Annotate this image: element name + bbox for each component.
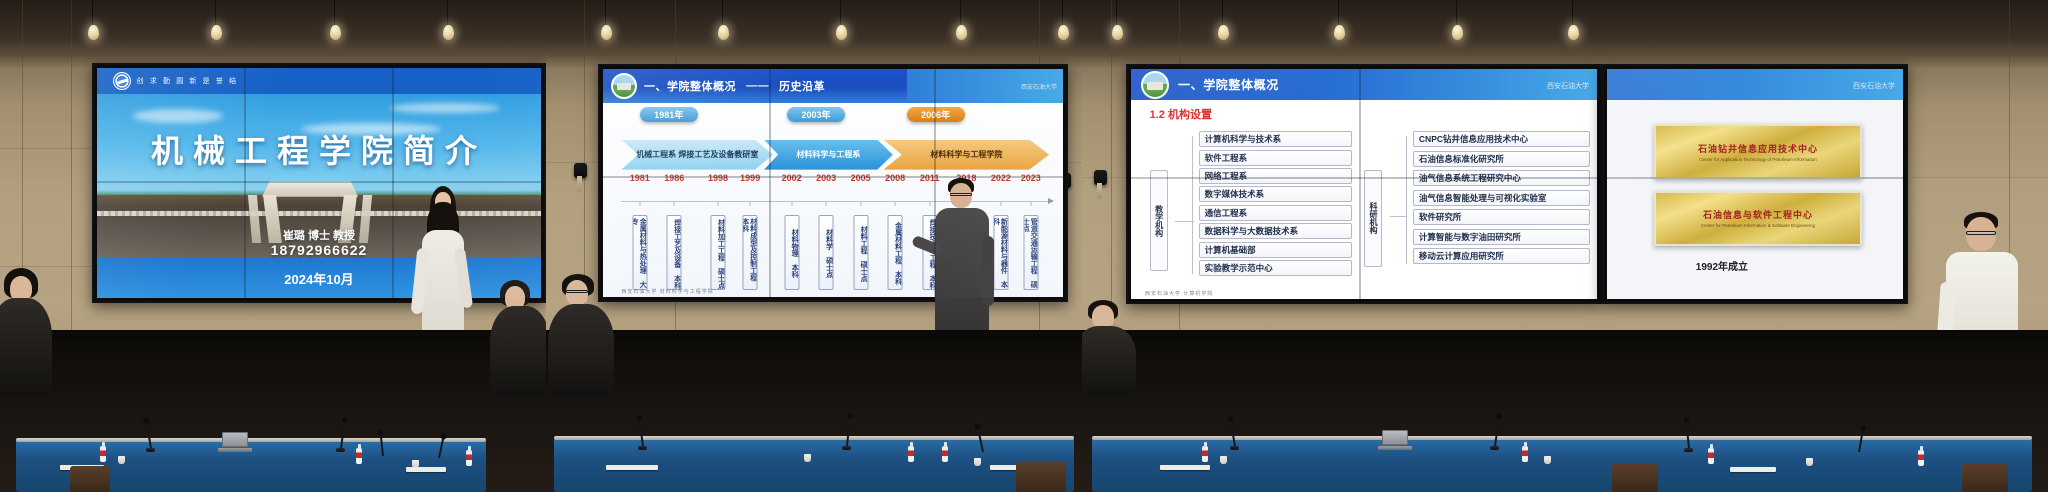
water-bottle <box>942 446 948 462</box>
org-item: 油气信息系统工程研究中心 <box>1413 170 1590 186</box>
slide-header-subtitle: 历史沿革 <box>779 78 825 94</box>
paper-cup <box>1544 456 1551 464</box>
ceiling-lamp <box>330 0 338 40</box>
milestone-pill-2003: 2003年 <box>787 107 845 122</box>
laptop <box>1378 430 1412 450</box>
ceiling-lamp <box>211 0 219 40</box>
axis-item: 金属材料工程 本科 <box>888 215 903 290</box>
chair <box>1962 464 2008 492</box>
ceiling-lamp <box>956 0 964 40</box>
ceiling-lamp <box>836 0 844 40</box>
slide-header-separator: —— <box>746 80 769 92</box>
seated-attendee-left <box>0 268 60 392</box>
campus-photo-icon <box>1141 71 1169 99</box>
org-item: 油气信息智能处理与可视化实验室 <box>1413 190 1590 206</box>
presenter-name: 崔璐 博士 教授 <box>97 229 541 243</box>
org-item: 软件工程系 <box>1199 150 1353 166</box>
axis-item: 管道交通运输工程 硕士点 <box>1023 215 1038 290</box>
org-item: 石油信息标准化研究所 <box>1413 151 1590 167</box>
panel-right: 一、学院整体概况 西安石油大学 1.2 机构设置 教学机构 计算机科学与技术系 … <box>1082 0 2048 492</box>
water-bottle <box>1918 450 1924 466</box>
slide-header-band: 一、学院整体概况 西安石油大学 <box>1131 69 1597 100</box>
photo-triptych: 创 求 勤 圆 新 是 誉 结 机械工程学院简介 崔璐 博士 教授 187929… <box>0 0 2048 492</box>
milestone-pills: 1981年 2003年 2006年 <box>603 105 1063 135</box>
paper-cup <box>118 456 125 464</box>
founded-note: 1992年成立 <box>1696 258 1748 273</box>
paper-cup <box>1220 456 1227 464</box>
axis-item: 材料成型及控制工程 本科 <box>743 215 758 290</box>
axis-item: 材料加工工程 硕士点 <box>711 215 726 290</box>
plaque-software-center: 石油信息与软件工程中心 Center for Petroleum Informa… <box>1654 191 1861 246</box>
ceiling-soffit <box>0 0 546 54</box>
seated-attendee-right <box>492 280 546 392</box>
glasses-icon <box>566 290 588 293</box>
slide-org-chart: 一、学院整体概况 西安石油大学 1.2 机构设置 教学机构 计算机科学与技术系 … <box>1131 69 1597 299</box>
campus-photo-icon <box>611 73 637 99</box>
seated-attendee-left <box>552 274 618 392</box>
org-item: 通信工程系 <box>1199 205 1353 221</box>
org-item: 数据科学与大数据技术系 <box>1199 223 1353 239</box>
ceiling-lamp <box>1334 0 1342 40</box>
slide-header-band-right: 西安石油大学 <box>1607 69 1903 100</box>
video-wall: 一、学院整体概况 西安石油大学 1.2 机构设置 教学机构 计算机科学与技术系 … <box>1126 64 1602 304</box>
axis-item: 焊接工艺及设备 本科 <box>667 215 682 290</box>
axis-item: 金属材料与热处理 大专 <box>632 215 647 290</box>
slide-header-title: 一、学院整体概况 <box>644 78 736 94</box>
ceiling-lamp <box>443 0 451 40</box>
glasses-icon <box>950 193 972 196</box>
ceiling-lamp <box>718 0 726 40</box>
wall-speaker <box>574 163 587 178</box>
slide-title: 创 求 勤 圆 新 是 誉 结 机械工程学院简介 崔璐 博士 教授 187929… <box>97 68 541 298</box>
paper-cup <box>804 454 811 462</box>
milestone-pill-2006: 2006年 <box>907 107 965 122</box>
org-item: 计算机基础部 <box>1199 242 1353 258</box>
university-motto: 创 求 勤 圆 新 是 誉 结 <box>137 77 239 85</box>
chair <box>70 466 110 492</box>
axis-item: 材料工程 硕士点 <box>853 215 868 290</box>
milestone-pill-1981: 1981年 <box>640 107 698 122</box>
axis-year: 2002 <box>782 173 802 183</box>
slide-footer-note: 西安石油大学 材料科学与工程学院 <box>621 288 713 295</box>
ceiling-lamp <box>1112 0 1120 40</box>
presenter-phone: 18792966622 <box>97 243 541 257</box>
axis-year: 1999 <box>740 173 760 183</box>
axis-year: 1981 <box>630 173 650 183</box>
document <box>606 465 658 470</box>
group-label-research: 科研机构 <box>1364 170 1382 267</box>
org-item: 网络工程系 <box>1199 168 1353 184</box>
water-bottle <box>356 448 362 464</box>
axis-year: 2005 <box>851 173 871 183</box>
plaque-title-en: Center for Petroleum Information & Softw… <box>1701 223 1815 228</box>
seated-attendee-left <box>1082 300 1142 392</box>
slide-footer-band: 2024年10月 <box>97 259 541 298</box>
water-bottle <box>908 446 914 462</box>
paper-cup <box>1806 458 1813 466</box>
slide-date: 2024年10月 <box>284 269 353 288</box>
org-item: 移动云计算应用研究所 <box>1413 248 1590 264</box>
laptop <box>218 432 252 452</box>
water-bottle <box>1202 446 1208 462</box>
org-item: 数字媒体技术系 <box>1199 186 1353 202</box>
axis-year: 1986 <box>664 173 684 183</box>
document <box>406 467 446 472</box>
axis-year: 2023 <box>1021 173 1041 183</box>
axis-year: 1998 <box>708 173 728 183</box>
ceiling-lamp <box>1058 0 1066 40</box>
group-label-teaching: 教学机构 <box>1150 170 1168 271</box>
plaque-title-cn: 石油信息与软件工程中心 <box>1703 208 1813 221</box>
axis-year: 2008 <box>885 173 905 183</box>
water-bottle <box>1708 448 1714 464</box>
org-item: CNPC钻井信息应用技术中心 <box>1413 131 1590 147</box>
milestone-chevron-2006: 材料科学与工程学院 <box>884 140 1050 170</box>
axis-item: 材料学 硕士点 <box>819 215 834 290</box>
video-wall-right-segment: 西安石油大学 石油钻井信息应用技术中心 Center for Applicati… <box>1602 64 1908 304</box>
video-wall: 创 求 勤 圆 新 是 誉 结 机械工程学院简介 崔璐 博士 教授 187929… <box>92 63 546 303</box>
water-bottle <box>100 446 106 462</box>
document <box>1160 465 1210 470</box>
university-watermark: 西安石油大学 <box>1021 82 1057 91</box>
ceiling-lamp <box>1568 0 1576 40</box>
chair <box>1612 464 1658 492</box>
slide-subtitle: 1.2 机构设置 <box>1150 106 1212 122</box>
milestone-chevron-2003: 材料科学与工程系 <box>764 140 893 170</box>
ceiling-lamp <box>601 0 609 40</box>
plaque-title-en: Center for Application Technology of Pet… <box>1699 157 1816 162</box>
university-logo-icon <box>113 72 131 90</box>
ceiling-soffit <box>546 0 1082 54</box>
university-watermark: 西安石油大学 <box>1853 81 1895 91</box>
plaque-panel: 西安石油大学 石油钻井信息应用技术中心 Center for Applicati… <box>1607 69 1903 299</box>
presenter-block: 崔璐 博士 教授 18792966622 <box>97 229 541 257</box>
milestone-chevron-1981: 机械工程系 焊接工艺及设备教研室 <box>621 140 773 170</box>
paper-cup <box>974 458 981 466</box>
university-watermark: 西安石油大学 <box>1547 81 1589 91</box>
org-item: 计算机科学与技术系 <box>1199 131 1353 147</box>
document <box>1730 467 1776 472</box>
glasses-icon <box>1966 231 1996 235</box>
ceiling-lamp <box>1452 0 1460 40</box>
plaque-title-cn: 石油钻井信息应用技术中心 <box>1698 142 1818 155</box>
panel-left: 创 求 勤 圆 新 是 誉 结 机械工程学院简介 崔璐 博士 教授 187929… <box>0 0 546 492</box>
org-item: 实验教学示范中心 <box>1199 260 1353 276</box>
ceiling-lamp <box>1218 0 1226 40</box>
slide-header-band: 一、学院整体概况 —— 历史沿革 西安石油大学 <box>603 69 1063 103</box>
org-item: 软件研究所 <box>1413 209 1590 225</box>
ceiling-lamp <box>88 0 96 40</box>
slide-header-band: 创 求 勤 圆 新 是 誉 结 <box>97 68 541 94</box>
org-item: 计算智能与数字油田研究所 <box>1413 229 1590 245</box>
chair <box>1016 462 1066 492</box>
plaque-drilling-center: 石油钻井信息应用技术中心 Center for Application Tech… <box>1654 124 1861 179</box>
water-bottle <box>466 450 472 466</box>
panel-middle: 一、学院整体概况 —— 历史沿革 西安石油大学 1981年 2003年 2006… <box>546 0 1082 492</box>
slide-title-text: 机械工程学院简介 <box>97 126 541 172</box>
slide-footer-note: 西安石油大学 计算机学院 <box>1145 290 1213 297</box>
water-bottle <box>1522 446 1528 462</box>
axis-item: 材料物理 本科 <box>784 215 799 290</box>
slide-header-title: 一、学院整体概况 <box>1178 76 1279 93</box>
axis-year: 2003 <box>816 173 836 183</box>
wall-speaker <box>1094 170 1107 185</box>
